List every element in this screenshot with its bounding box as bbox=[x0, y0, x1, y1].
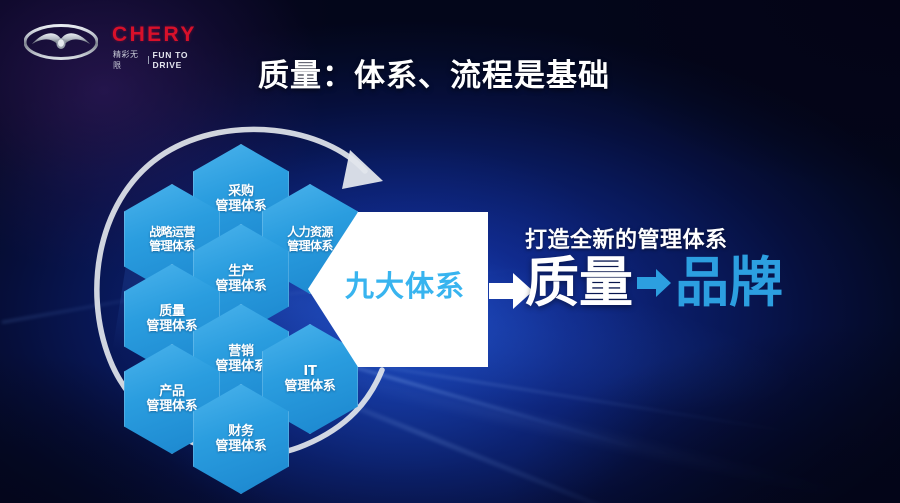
chery-oval-logo-icon bbox=[24, 24, 98, 60]
callout-row: 质量 品牌 bbox=[525, 256, 895, 310]
hex-label: 产品 管理体系 bbox=[146, 384, 197, 415]
page-title: 质量：体系、流程是基础 bbox=[258, 50, 610, 95]
hex-label: 财务 管理体系 bbox=[215, 424, 266, 455]
hex-label: 生产 管理体系 bbox=[215, 264, 266, 295]
center-hexagon-label: 九大体系 bbox=[330, 263, 480, 305]
slide-canvas: CHERY 精彩无限 FUN TO DRIVE 质量：体系、流程是基础 采购 管… bbox=[0, 0, 900, 503]
callout-term-quality: 质量 bbox=[525, 256, 633, 310]
callout-kicker: 打造全新的管理体系 bbox=[525, 222, 895, 254]
hex-label: 战略运营 管理体系 bbox=[149, 225, 195, 253]
hex-label: IT 管理体系 bbox=[284, 364, 335, 395]
hex-label: 营销 管理体系 bbox=[215, 344, 266, 375]
brand-logo: CHERY 精彩无限 FUN TO DRIVE bbox=[24, 18, 214, 66]
chery-tagline: 精彩无限 FUN TO DRIVE bbox=[113, 49, 214, 71]
tagline-divider bbox=[148, 56, 149, 64]
tagline-english: FUN TO DRIVE bbox=[153, 50, 214, 70]
chery-wordmark: CHERY bbox=[112, 23, 197, 47]
hex-label: 采购 管理体系 bbox=[215, 184, 266, 215]
arrow-right-blue-icon bbox=[637, 268, 671, 298]
callout-term-brand: 品牌 bbox=[675, 256, 783, 310]
tagline-chinese: 精彩无限 bbox=[113, 49, 144, 71]
hex-label: 质量 管理体系 bbox=[146, 304, 197, 335]
callout-block: 打造全新的管理体系 质量 品牌 bbox=[525, 222, 895, 310]
